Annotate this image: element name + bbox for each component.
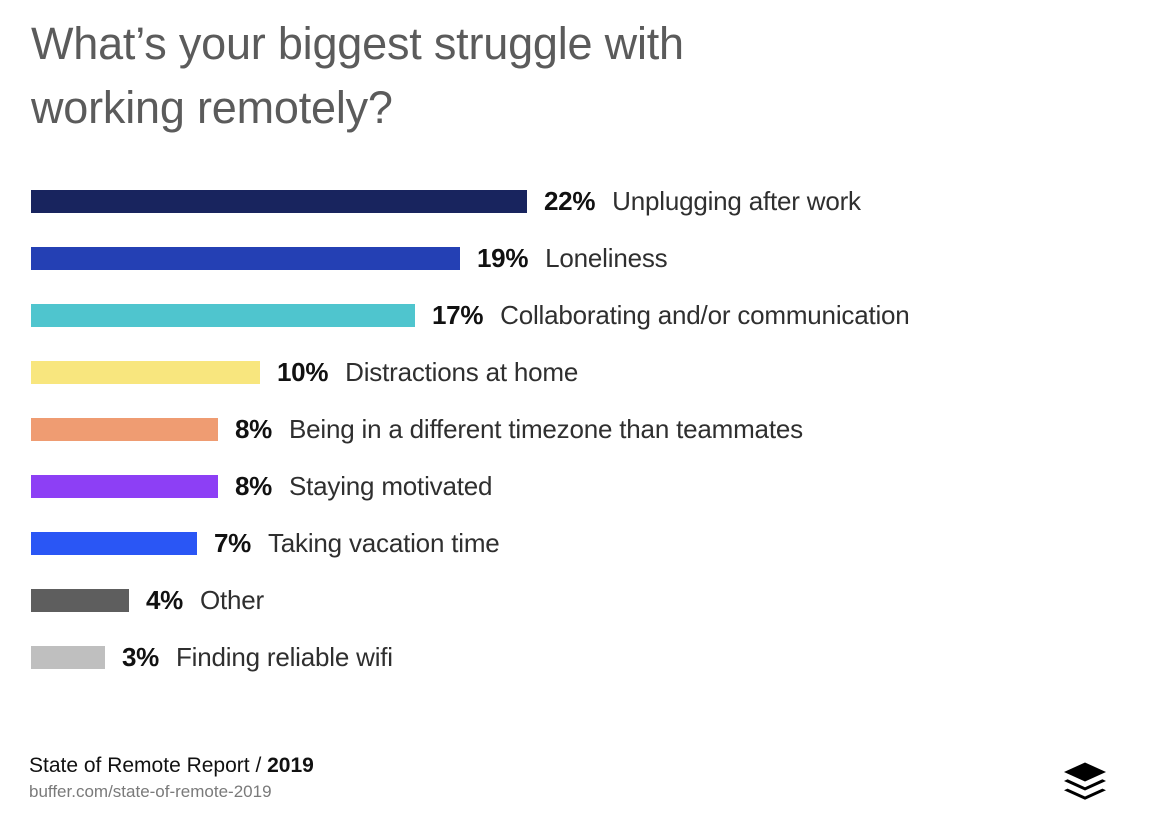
bar-value-label: 8%	[235, 474, 272, 499]
report-url: buffer.com/state-of-remote-2019	[29, 780, 314, 804]
bar	[31, 361, 260, 384]
bar	[31, 646, 105, 669]
bar-row: 22%Unplugging after work	[31, 189, 1121, 246]
bar	[31, 475, 218, 498]
bar-row: 8%Being in a different timezone than tea…	[31, 417, 1121, 474]
bar-track: 17%Collaborating and/or communication	[31, 303, 910, 328]
bar	[31, 190, 527, 213]
bar-track: 7%Taking vacation time	[31, 531, 500, 556]
bar-value-label: 17%	[432, 303, 483, 328]
bar	[31, 418, 218, 441]
bar-track: 10%Distractions at home	[31, 360, 578, 385]
bar	[31, 589, 129, 612]
bar-row: 17%Collaborating and/or communication	[31, 303, 1121, 360]
bar-category-label: Distractions at home	[345, 360, 578, 385]
bar-track: 8%Being in a different timezone than tea…	[31, 417, 803, 442]
bar-value-label: 4%	[146, 588, 183, 613]
bar-row: 10%Distractions at home	[31, 360, 1121, 417]
bar-category-label: Staying motivated	[289, 474, 492, 499]
bar-track: 4%Other	[31, 588, 264, 613]
bar-category-label: Taking vacation time	[268, 531, 500, 556]
bar-category-label: Collaborating and/or communication	[500, 303, 909, 328]
bar	[31, 247, 460, 270]
bar-category-label: Finding reliable wifi	[176, 645, 393, 670]
buffer-logo-icon	[1063, 761, 1107, 801]
bar-value-label: 22%	[544, 189, 595, 214]
bar-track: 19%Loneliness	[31, 246, 667, 271]
bar-value-label: 7%	[214, 531, 251, 556]
bar-row: 19%Loneliness	[31, 246, 1121, 303]
bar-track: 22%Unplugging after work	[31, 189, 861, 214]
bar-track: 3%Finding reliable wifi	[31, 645, 393, 670]
bar-track: 8%Staying motivated	[31, 474, 492, 499]
bar-row: 7%Taking vacation time	[31, 531, 1121, 588]
bar	[31, 532, 197, 555]
bar-row: 8%Staying motivated	[31, 474, 1121, 531]
bar-chart: 22%Unplugging after work19%Loneliness17%…	[31, 189, 1121, 702]
bar-category-label: Being in a different timezone than teamm…	[289, 417, 803, 442]
bar-row: 4%Other	[31, 588, 1121, 645]
report-name: State of Remote Report / 2019	[29, 752, 314, 779]
report-year: 2019	[267, 754, 314, 777]
page-title: What’s your biggest struggle with workin…	[31, 12, 931, 140]
bar-category-label: Other	[200, 588, 264, 613]
bar	[31, 304, 415, 327]
bar-value-label: 19%	[477, 246, 528, 271]
bar-value-label: 8%	[235, 417, 272, 442]
bar-value-label: 3%	[122, 645, 159, 670]
bar-category-label: Loneliness	[545, 246, 667, 271]
infographic-page: What’s your biggest struggle with workin…	[0, 0, 1152, 822]
report-name-text: State of Remote Report /	[29, 754, 267, 777]
bar-value-label: 10%	[277, 360, 328, 385]
bar-row: 3%Finding reliable wifi	[31, 645, 1121, 702]
bar-category-label: Unplugging after work	[612, 189, 861, 214]
footer: State of Remote Report / 2019 buffer.com…	[29, 752, 314, 804]
